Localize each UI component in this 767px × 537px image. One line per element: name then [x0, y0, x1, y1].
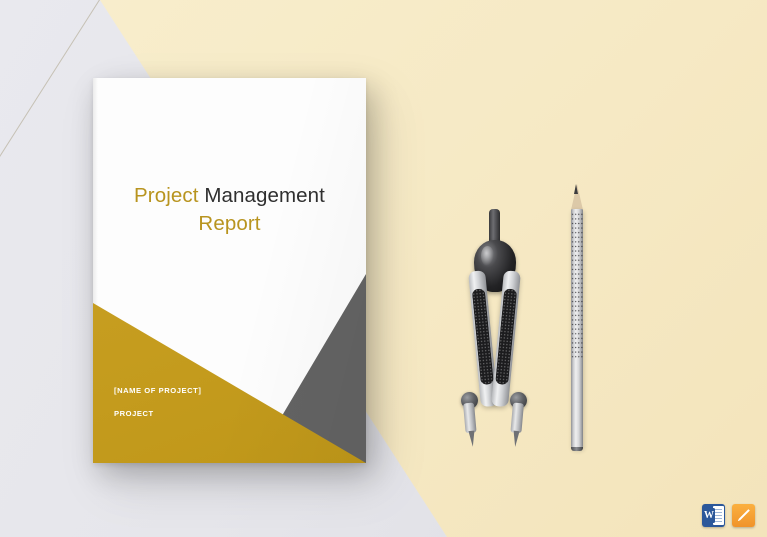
pencil-end-cap [571, 447, 583, 451]
compass-right-tip-shaft [510, 403, 524, 434]
apple-pages-icon[interactable] [732, 504, 755, 527]
cover-footer: [NAME OF PROJECT] PROJECT [114, 387, 201, 418]
pages-pen-glyph [736, 508, 751, 523]
microsoft-word-icon[interactable]: W [702, 504, 725, 527]
compass-right-tip [509, 403, 524, 448]
file-format-icons: W [702, 504, 755, 527]
cover-title-word-management: Management [204, 184, 325, 207]
cover-footer-project-name: [NAME OF PROJECT] [114, 387, 201, 395]
cover-title-line-1: Project Management [93, 182, 366, 210]
cover-title-line-2: Report [93, 210, 366, 238]
compass-left-tip [463, 403, 478, 448]
document-mockup-scene: Project Management Report [NAME OF PROJE… [0, 0, 767, 537]
compass-needle-point [468, 431, 475, 447]
cover-title-word-project: Project [134, 184, 199, 207]
word-letter-badge: W [703, 508, 715, 523]
compass-pencil-point [512, 431, 519, 447]
pencil [569, 184, 584, 457]
drawing-compass [452, 209, 544, 441]
cover-title: Project Management Report [93, 182, 366, 238]
pencil-grip-texture [571, 212, 583, 360]
document-cover[interactable]: Project Management Report [NAME OF PROJE… [93, 78, 366, 463]
cover-footer-project-label: PROJECT [114, 410, 201, 418]
pencil-lead [574, 184, 578, 194]
